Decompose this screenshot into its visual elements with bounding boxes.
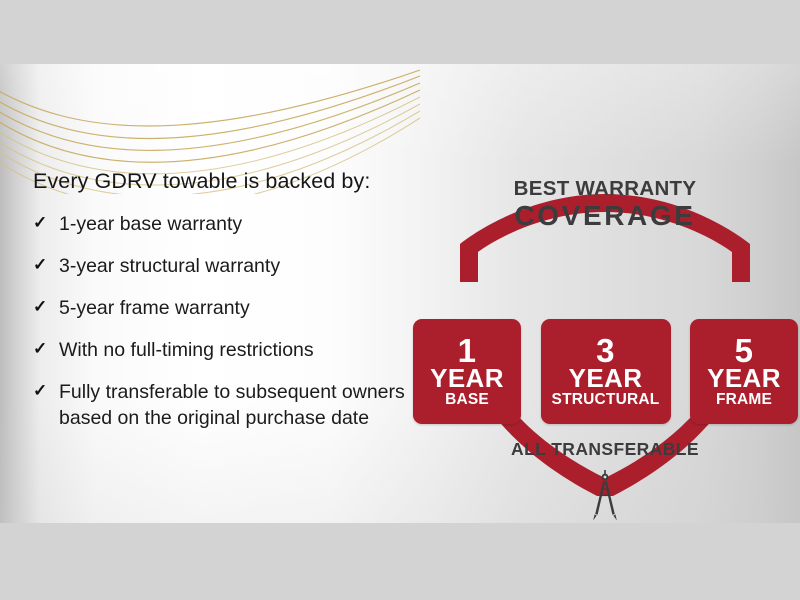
list-item: ✓ 5-year frame warranty bbox=[33, 296, 433, 322]
coverage-kind: BASE bbox=[445, 392, 489, 408]
list-item-label: 1-year base warranty bbox=[59, 212, 419, 238]
check-icon: ✓ bbox=[33, 296, 59, 319]
badge-footer-label: ALL TRANSFERABLE bbox=[440, 439, 770, 460]
check-icon: ✓ bbox=[33, 380, 59, 403]
coverage-number: 5 bbox=[735, 335, 754, 366]
compass-divider-icon bbox=[584, 468, 626, 523]
badge-headline-line1: BEST WARRANTY bbox=[440, 179, 770, 200]
coverage-unit: YEAR bbox=[569, 365, 643, 391]
coverage-kind: FRAME bbox=[716, 392, 772, 408]
coverage-number: 3 bbox=[596, 335, 615, 366]
badge-headline-line2: COVERAGE bbox=[440, 202, 770, 230]
list-item-label: Fully transferable to subsequent owners … bbox=[59, 380, 419, 432]
list-item: ✓ 1-year base warranty bbox=[33, 212, 433, 238]
check-icon: ✓ bbox=[33, 338, 59, 361]
list-item: ✓ With no full-timing restrictions bbox=[33, 338, 433, 364]
coverage-box-structural: 3 YEAR STRUCTURAL bbox=[541, 319, 671, 424]
coverage-box-frame: 5 YEAR FRAME bbox=[690, 319, 798, 424]
check-icon: ✓ bbox=[33, 254, 59, 277]
coverage-box-group: 1 YEAR BASE 3 YEAR STRUCTURAL 5 YEAR FRA… bbox=[413, 319, 798, 424]
warranty-bullet-list: ✓ 1-year base warranty ✓ 3-year structur… bbox=[33, 212, 433, 432]
coverage-unit: YEAR bbox=[430, 365, 504, 391]
badge-headline: BEST WARRANTY COVERAGE bbox=[440, 179, 770, 230]
list-item-label: 5-year frame warranty bbox=[59, 296, 419, 322]
letterbox-bottom bbox=[0, 523, 800, 600]
letterbox-top bbox=[0, 0, 800, 64]
coverage-number: 1 bbox=[458, 335, 477, 366]
check-icon: ✓ bbox=[33, 212, 59, 235]
coverage-box-base: 1 YEAR BASE bbox=[413, 319, 521, 424]
list-item: ✓ 3-year structural warranty bbox=[33, 254, 433, 280]
coverage-kind: STRUCTURAL bbox=[552, 392, 660, 408]
warranty-badge: BEST WARRANTY COVERAGE 1 YEAR BASE 3 YEA… bbox=[440, 156, 770, 496]
page-title: Every GDRV towable is backed by: bbox=[33, 169, 433, 194]
warranty-copy-block: Every GDRV towable is backed by: ✓ 1-yea… bbox=[33, 169, 433, 432]
slide-image: Every GDRV towable is backed by: ✓ 1-yea… bbox=[0, 0, 800, 600]
list-item-label: With no full-timing restrictions bbox=[59, 338, 419, 364]
list-item-label: 3-year structural warranty bbox=[59, 254, 419, 280]
list-item: ✓ Fully transferable to subsequent owner… bbox=[33, 380, 433, 432]
slide-canvas: Every GDRV towable is backed by: ✓ 1-yea… bbox=[0, 64, 800, 523]
coverage-unit: YEAR bbox=[707, 365, 781, 391]
